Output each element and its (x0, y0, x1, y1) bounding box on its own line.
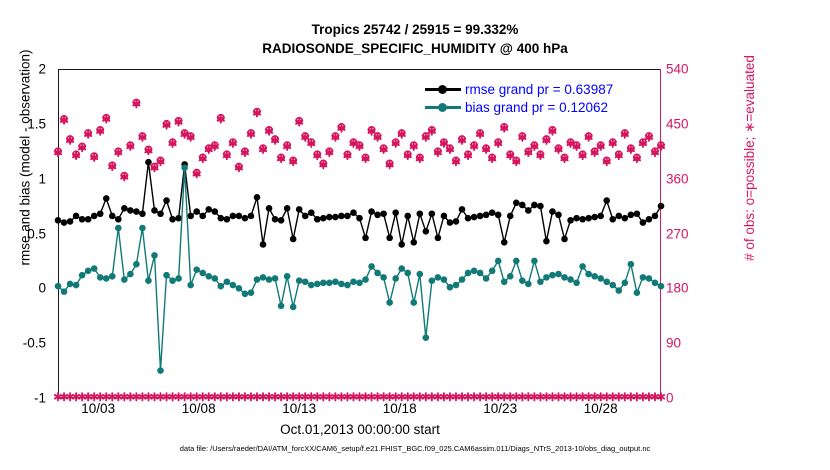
right-tick-label: 270 (666, 226, 689, 241)
rmse-line-marker-icon (425, 82, 461, 96)
x-tick-label: 10/03 (81, 401, 115, 416)
right-tick-label: 360 (666, 171, 689, 186)
x-tick-label: 10/13 (282, 401, 316, 416)
chart-legend: rmse grand pr = 0.63987 bias grand pr = … (425, 80, 613, 116)
chart-page: Tropics 25742 / 25915 = 99.332% RADIOSON… (0, 0, 830, 470)
right-tick-label: 0 (666, 391, 674, 406)
left-tick-label: 2 (38, 62, 46, 77)
plot-frame (58, 69, 661, 398)
left-tick-label: -0.5 (23, 336, 46, 351)
right-tick-label: 180 (666, 281, 689, 296)
x-tick-label: 10/28 (584, 401, 618, 416)
left-tick-label: 0 (38, 281, 46, 296)
chart-title-line2: RADIOSONDE_SPECIFIC_HUMIDITY @ 400 hPa (0, 39, 830, 58)
right-axis-title: # of obs: o=possible; ∗=evaluated (742, 0, 758, 323)
chart-title-line1: Tropics 25742 / 25915 = 99.332% (0, 20, 830, 39)
left-tick-mark (58, 398, 64, 399)
left-tick-label: -1 (34, 391, 46, 406)
left-axis-title: rmse and bias (model - observation) (18, 0, 33, 323)
right-axis-ticks: 090180270360450540 (666, 69, 726, 398)
right-tick-label: 90 (666, 336, 681, 351)
legend-item-rmse: rmse grand pr = 0.63987 (425, 80, 613, 98)
bias-line-marker-icon (425, 100, 461, 114)
data-file-note: data file: /Users/raeder/DAI/ATM_forcXX/… (0, 444, 830, 453)
chart-title-block: Tropics 25742 / 25915 = 99.332% RADIOSON… (0, 20, 830, 58)
right-tick-label: 540 (666, 62, 689, 77)
legend-item-bias: bias grand pr = 0.12062 (425, 98, 613, 116)
right-tick-label: 450 (666, 116, 689, 131)
x-tick-label: 10/08 (182, 401, 216, 416)
left-tick-label: 1 (38, 171, 46, 186)
right-axis-line (660, 69, 661, 399)
x-tick-label: 10/23 (483, 401, 517, 416)
legend-label-bias: bias grand pr = 0.12062 (465, 100, 608, 115)
x-tick-label: 10/18 (383, 401, 417, 416)
x-axis-caption: Oct.01,2013 00:00:00 start (0, 422, 720, 437)
legend-label-rmse: rmse grand pr = 0.63987 (465, 82, 613, 97)
